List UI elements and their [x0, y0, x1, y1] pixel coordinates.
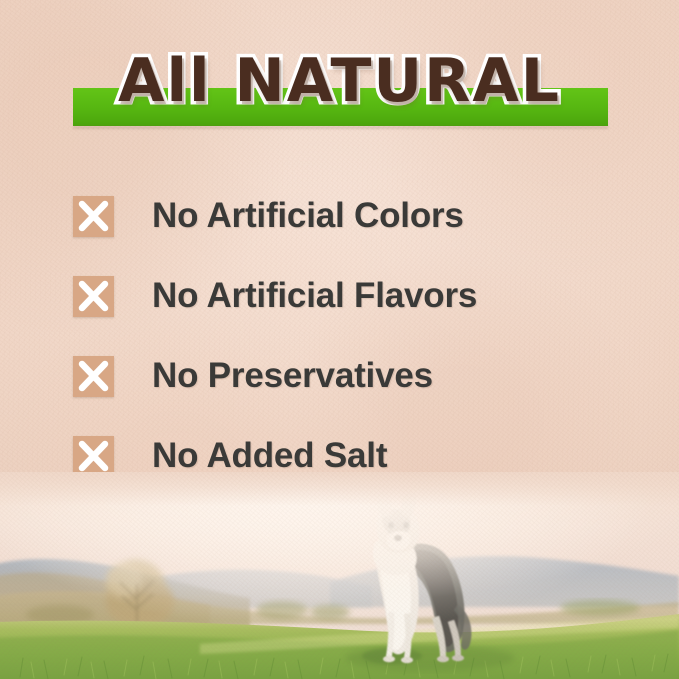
title-banner: All NATURAL [0, 48, 679, 136]
x-mark-icon [73, 356, 114, 397]
feature-list: No Artificial Colors No Artificial Flavo… [73, 176, 633, 496]
page-title: All NATURAL [0, 48, 679, 114]
feature-label: No Preservatives [152, 356, 433, 396]
list-item: No Preservatives [73, 336, 633, 416]
x-mark-icon [73, 436, 114, 477]
x-mark-icon [73, 276, 114, 317]
list-item: No Artificial Flavors [73, 256, 633, 336]
all-natural-poster: All NATURAL No Artificial Colors No Arti… [0, 0, 679, 679]
feature-label: No Artificial Flavors [152, 276, 477, 316]
x-mark-icon [73, 196, 114, 237]
feature-label: No Added Salt [152, 436, 387, 476]
dog-meadow-photo [0, 472, 679, 679]
list-item: No Artificial Colors [73, 176, 633, 256]
feature-label: No Artificial Colors [152, 196, 464, 236]
